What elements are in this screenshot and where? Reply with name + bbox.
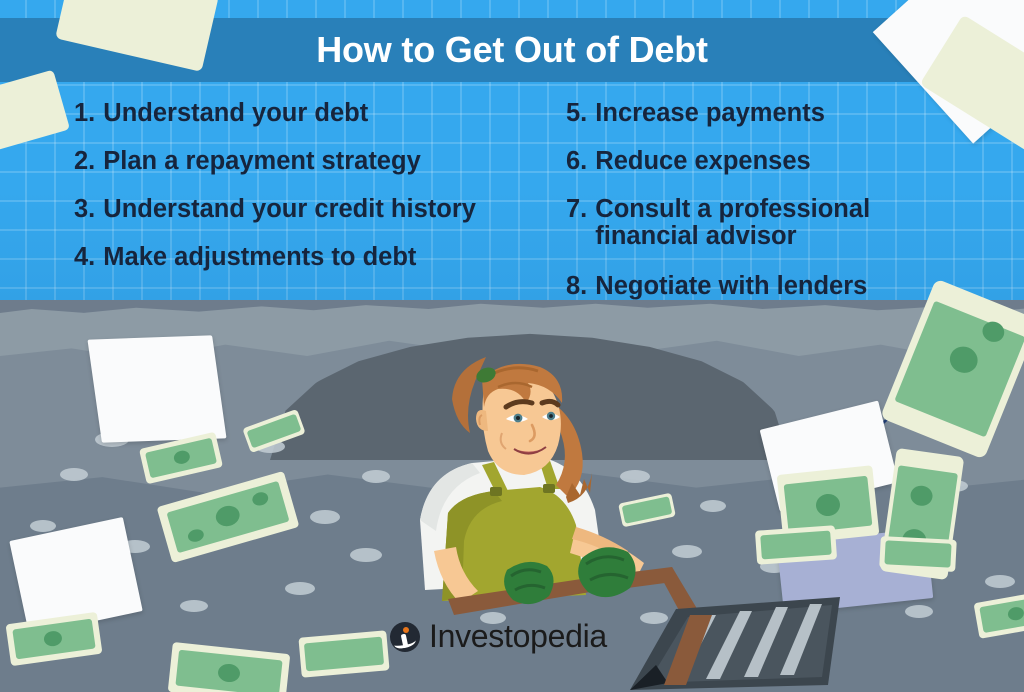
list-item-label: Make adjustments to debt (103, 244, 416, 270)
list-item-label: Increase payments (595, 100, 825, 126)
list-item-number: 7. (566, 196, 587, 249)
list-item-number: 3. (74, 196, 95, 222)
banknote-scatter (298, 630, 389, 678)
list-item-number: 2. (74, 148, 95, 174)
list-item-number: 1. (74, 100, 95, 126)
infographic-root: BILL BILL BILL BILL 100 100 (0, 0, 1024, 692)
glove-left (497, 552, 561, 612)
pebble (310, 510, 340, 524)
glove-right (572, 538, 644, 604)
steps-left-column: 1. Understand your debt 2. Plan a repaym… (74, 100, 574, 292)
list-item: 3. Understand your credit history (74, 196, 574, 222)
pebble (60, 468, 88, 481)
list-item-number: 5. (566, 100, 587, 126)
list-item-label: Reduce expenses (595, 148, 810, 174)
list-item: 1. Understand your debt (74, 100, 574, 126)
bill-paper-left-upper: BILL (87, 335, 226, 442)
pebble (362, 470, 390, 483)
pebble (350, 548, 382, 562)
list-item-label: Consult a professional financial advisor (595, 196, 955, 249)
list-item-label: Understand your credit history (103, 196, 476, 222)
list-item-label: Understand your debt (103, 100, 368, 126)
list-item-number: 4. (74, 244, 95, 270)
investopedia-logo: Investopedia (390, 618, 607, 655)
list-item-number: 8. (566, 273, 587, 299)
pebble (700, 500, 726, 512)
investopedia-mark-icon (390, 622, 420, 652)
list-item: 7. Consult a professional financial advi… (566, 196, 996, 249)
pebble (180, 600, 208, 612)
list-item: 4. Make adjustments to debt (74, 244, 574, 270)
pebble (285, 582, 315, 595)
brand-name: Investopedia (429, 618, 607, 655)
list-item: 6. Reduce expenses (566, 148, 996, 174)
list-item: 5. Increase payments (566, 100, 996, 126)
list-item-number: 6. (566, 148, 587, 174)
list-item: 2. Plan a repayment strategy (74, 148, 574, 174)
list-item-label: Plan a repayment strategy (103, 148, 420, 174)
list-item-label: Negotiate with lenders (595, 273, 867, 299)
logo-swoosh (393, 635, 416, 649)
pebble (30, 520, 56, 532)
logo-dot (403, 627, 409, 633)
